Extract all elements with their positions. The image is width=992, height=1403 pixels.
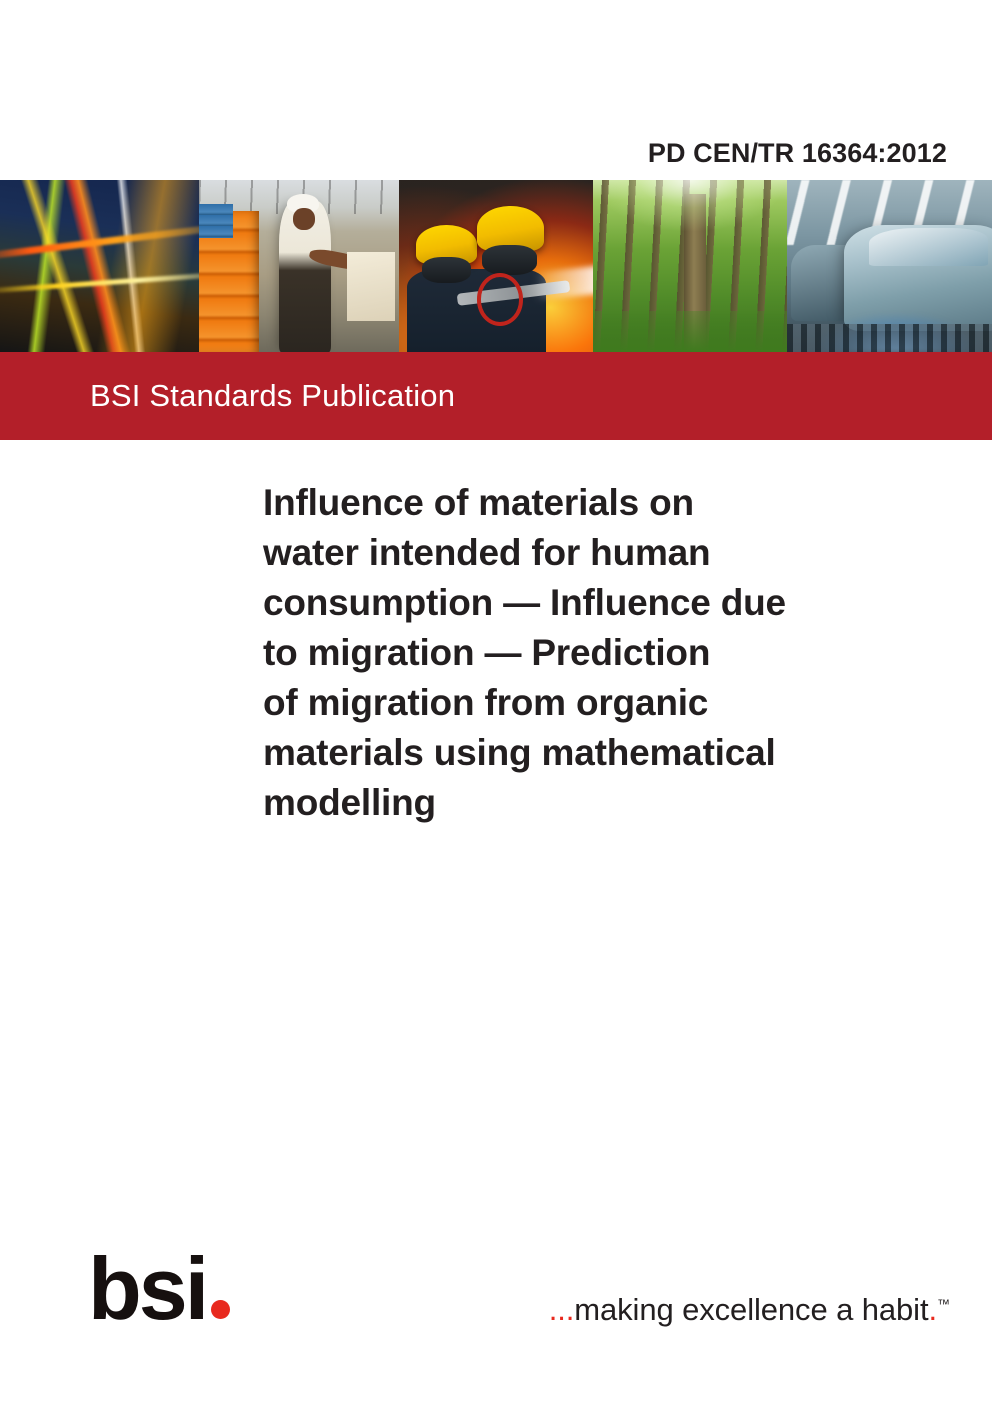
water-spray <box>534 266 593 300</box>
photo-panel-firefighters <box>399 180 593 352</box>
cover-page: PD CEN/TR 16364:2012 <box>0 0 992 1403</box>
title-line-5: of migration from organic <box>263 678 923 728</box>
photo-panel-car-assembly-line <box>787 180 992 352</box>
blue-crate <box>199 204 233 238</box>
bsi-logo-wordmark: bsi <box>88 1253 206 1325</box>
forest-canopy-light <box>593 180 787 232</box>
title-line-2: water intended for human <box>263 528 923 578</box>
bsi-tagline: ...making excellence a habit.™ <box>549 1292 950 1328</box>
title-line-7: modelling <box>263 778 923 828</box>
bsi-logo-dot-icon <box>211 1300 230 1319</box>
firefighter-helmet-front <box>477 206 545 251</box>
title-line-6: materials using mathematical <box>263 728 923 778</box>
car-windshield <box>869 228 988 266</box>
photo-panel-forest <box>593 180 787 352</box>
hose-valve-wheel <box>477 273 524 326</box>
document-code: PD CEN/TR 16364:2012 <box>648 138 947 169</box>
banner-label: BSI Standards Publication <box>90 378 455 414</box>
tagline-end-dot: . <box>928 1292 937 1327</box>
title-line-4: to migration — Prediction <box>263 628 923 678</box>
bsi-logo: bsi <box>88 1253 230 1325</box>
tagline-leading-ellipsis: ... <box>549 1292 575 1327</box>
photo-panel-traffic-light-trails <box>0 180 199 352</box>
page-title: Influence of materials on water intended… <box>263 478 923 828</box>
cardboard-box <box>347 252 395 321</box>
standards-publication-banner: BSI Standards Publication <box>0 352 992 440</box>
firefighter-mask-rear <box>422 257 471 283</box>
trademark-symbol-icon: ™ <box>937 1297 950 1312</box>
forest-floor <box>593 311 787 352</box>
firefighter-mask-front <box>482 245 536 274</box>
title-line-3: consumption — Influence due <box>263 578 923 628</box>
tagline-text: making excellence a habit <box>574 1292 928 1327</box>
assembly-line-floor-grid <box>787 324 992 352</box>
title-line-1: Influence of materials on <box>263 478 923 528</box>
photo-strip <box>0 180 992 352</box>
photo-panel-warehouse-worker <box>199 180 399 352</box>
worker-face <box>293 208 315 230</box>
firefighter-uniform <box>407 269 547 352</box>
